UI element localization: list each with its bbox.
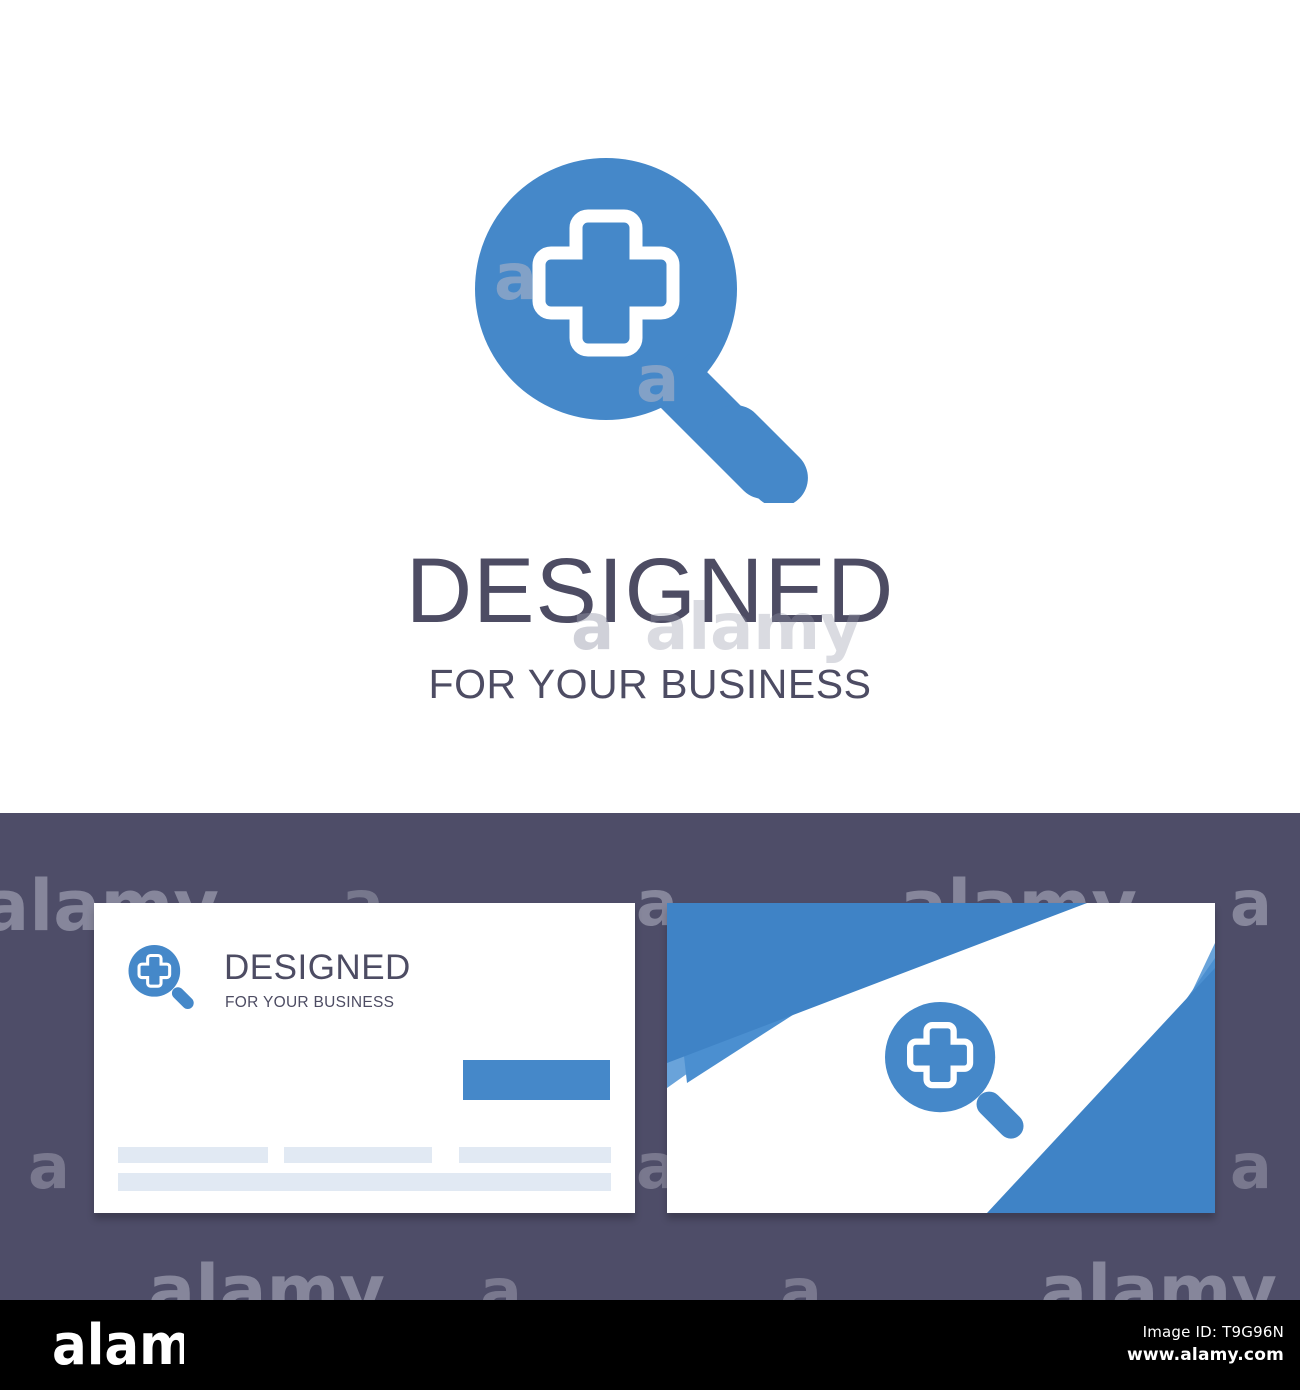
stock-photo-page: DESIGNED FOR YOUR BUSINESS a a a alamy a… (0, 0, 1300, 1390)
card-subtitle: FOR YOUR BUSINESS (225, 995, 394, 1011)
magnifier-plus-icon (128, 945, 196, 1012)
hero-artwork: DESIGNED FOR YOUR BUSINESS a a a alamy (0, 0, 1300, 813)
watermark-letter: a (480, 1261, 522, 1300)
alamy-logo: alamy (52, 1320, 184, 1372)
card-title: DESIGNED (224, 950, 411, 985)
watermark-letter: a (1230, 1136, 1272, 1198)
placeholder-line (459, 1147, 611, 1163)
accent-block (463, 1060, 610, 1100)
website-url[interactable]: www.alamy.com (1127, 1343, 1284, 1367)
watermark-word: alamy (148, 1256, 385, 1300)
alamy-footer-bar: alamy Image ID: T9G96N www.alamy.com (0, 1300, 1300, 1390)
magnifier-plus-icon (885, 1002, 1030, 1147)
watermark-letter: a (28, 1136, 70, 1198)
placeholder-line (118, 1173, 611, 1191)
page-title: DESIGNED (0, 545, 1300, 637)
placeholder-line (284, 1147, 432, 1163)
business-card-mockup-panel: alamy a a alamy a a a a alamy a a alamy … (0, 813, 1300, 1300)
page-subtitle: FOR YOUR BUSINESS (0, 664, 1300, 705)
business-card-back[interactable] (667, 903, 1215, 1213)
watermark-letter: a (780, 1261, 822, 1300)
placeholder-line (118, 1147, 268, 1163)
watermark-word: alamy (1040, 1256, 1277, 1300)
footer-meta: Image ID: T9G96N www.alamy.com (1127, 1322, 1284, 1367)
svg-text:alamy: alamy (52, 1320, 184, 1372)
magnifier-plus-icon (475, 158, 825, 503)
business-card-front[interactable]: DESIGNED FOR YOUR BUSINESS (94, 903, 635, 1213)
watermark-letter: a (1230, 873, 1272, 935)
image-id-label: Image ID: T9G96N (1127, 1322, 1284, 1343)
